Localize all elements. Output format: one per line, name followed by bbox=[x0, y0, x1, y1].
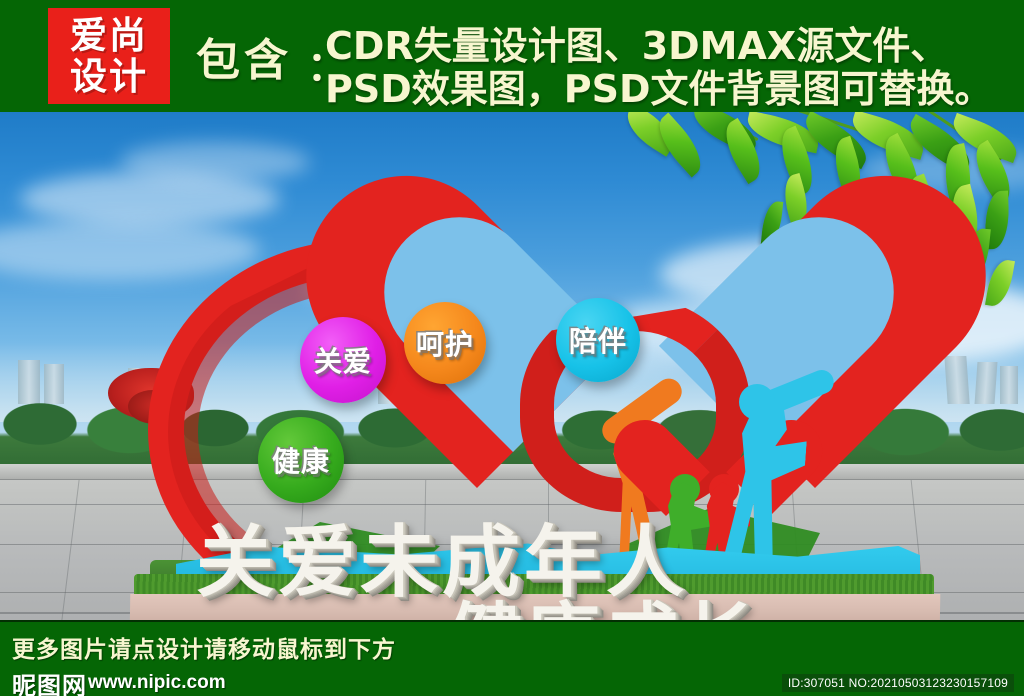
poster-screenshot: 爱尚 设计 包含 ： CDR失量设计图、3DMAX源文件、 PSD效果图，PSD… bbox=[0, 0, 1024, 696]
footer-brand-name: 昵图网 bbox=[12, 666, 87, 696]
top-banner: 爱尚 设计 包含 ： CDR失量设计图、3DMAX源文件、 PSD效果图，PSD… bbox=[0, 0, 1024, 112]
poster-photo: 关爱 呵护 陪伴 健康 关爱未成年人 健康成长 bbox=[0, 112, 1024, 620]
tag-bubble-label: 关爱 bbox=[314, 340, 372, 380]
tag-bubble-huhu[interactable]: 呵护 bbox=[404, 302, 486, 384]
banner-includes-label: 包含 bbox=[196, 24, 292, 88]
poster-headline-secondary: 健康成长 bbox=[448, 578, 760, 620]
tag-bubble-guanai[interactable]: 关爱 bbox=[300, 317, 386, 403]
footer-image-id: ID:307051 NO:20210503123230157109 bbox=[782, 674, 1014, 692]
tag-bubble-label: 陪伴 bbox=[569, 320, 627, 360]
tag-bubble-label: 健康 bbox=[272, 440, 330, 480]
footer-website-url[interactable]: www.nipic.com bbox=[88, 672, 226, 694]
footer-note: 更多图片请点设计请移动鼠标到下方 bbox=[12, 630, 396, 664]
brand-logo: 爱尚 设计 bbox=[48, 8, 170, 104]
brand-logo-line-2: 设计 bbox=[70, 58, 148, 95]
banner-contents-line-2: PSD效果图，PSD文件背景图可替换。 bbox=[325, 58, 993, 112]
footer-bar: 更多图片请点设计请移动鼠标到下方 昵图网 www.nipic.com ID:30… bbox=[0, 620, 1024, 696]
tag-bubble-jiankang[interactable]: 健康 bbox=[258, 417, 344, 503]
sculpture-group: 关爱 呵护 陪伴 健康 关爱未成年人 健康成长 bbox=[0, 112, 1024, 620]
brand-logo-line-1: 爱尚 bbox=[70, 17, 148, 54]
tag-bubble-label: 呵护 bbox=[416, 323, 474, 363]
tag-bubble-peiban[interactable]: 陪伴 bbox=[556, 298, 640, 382]
